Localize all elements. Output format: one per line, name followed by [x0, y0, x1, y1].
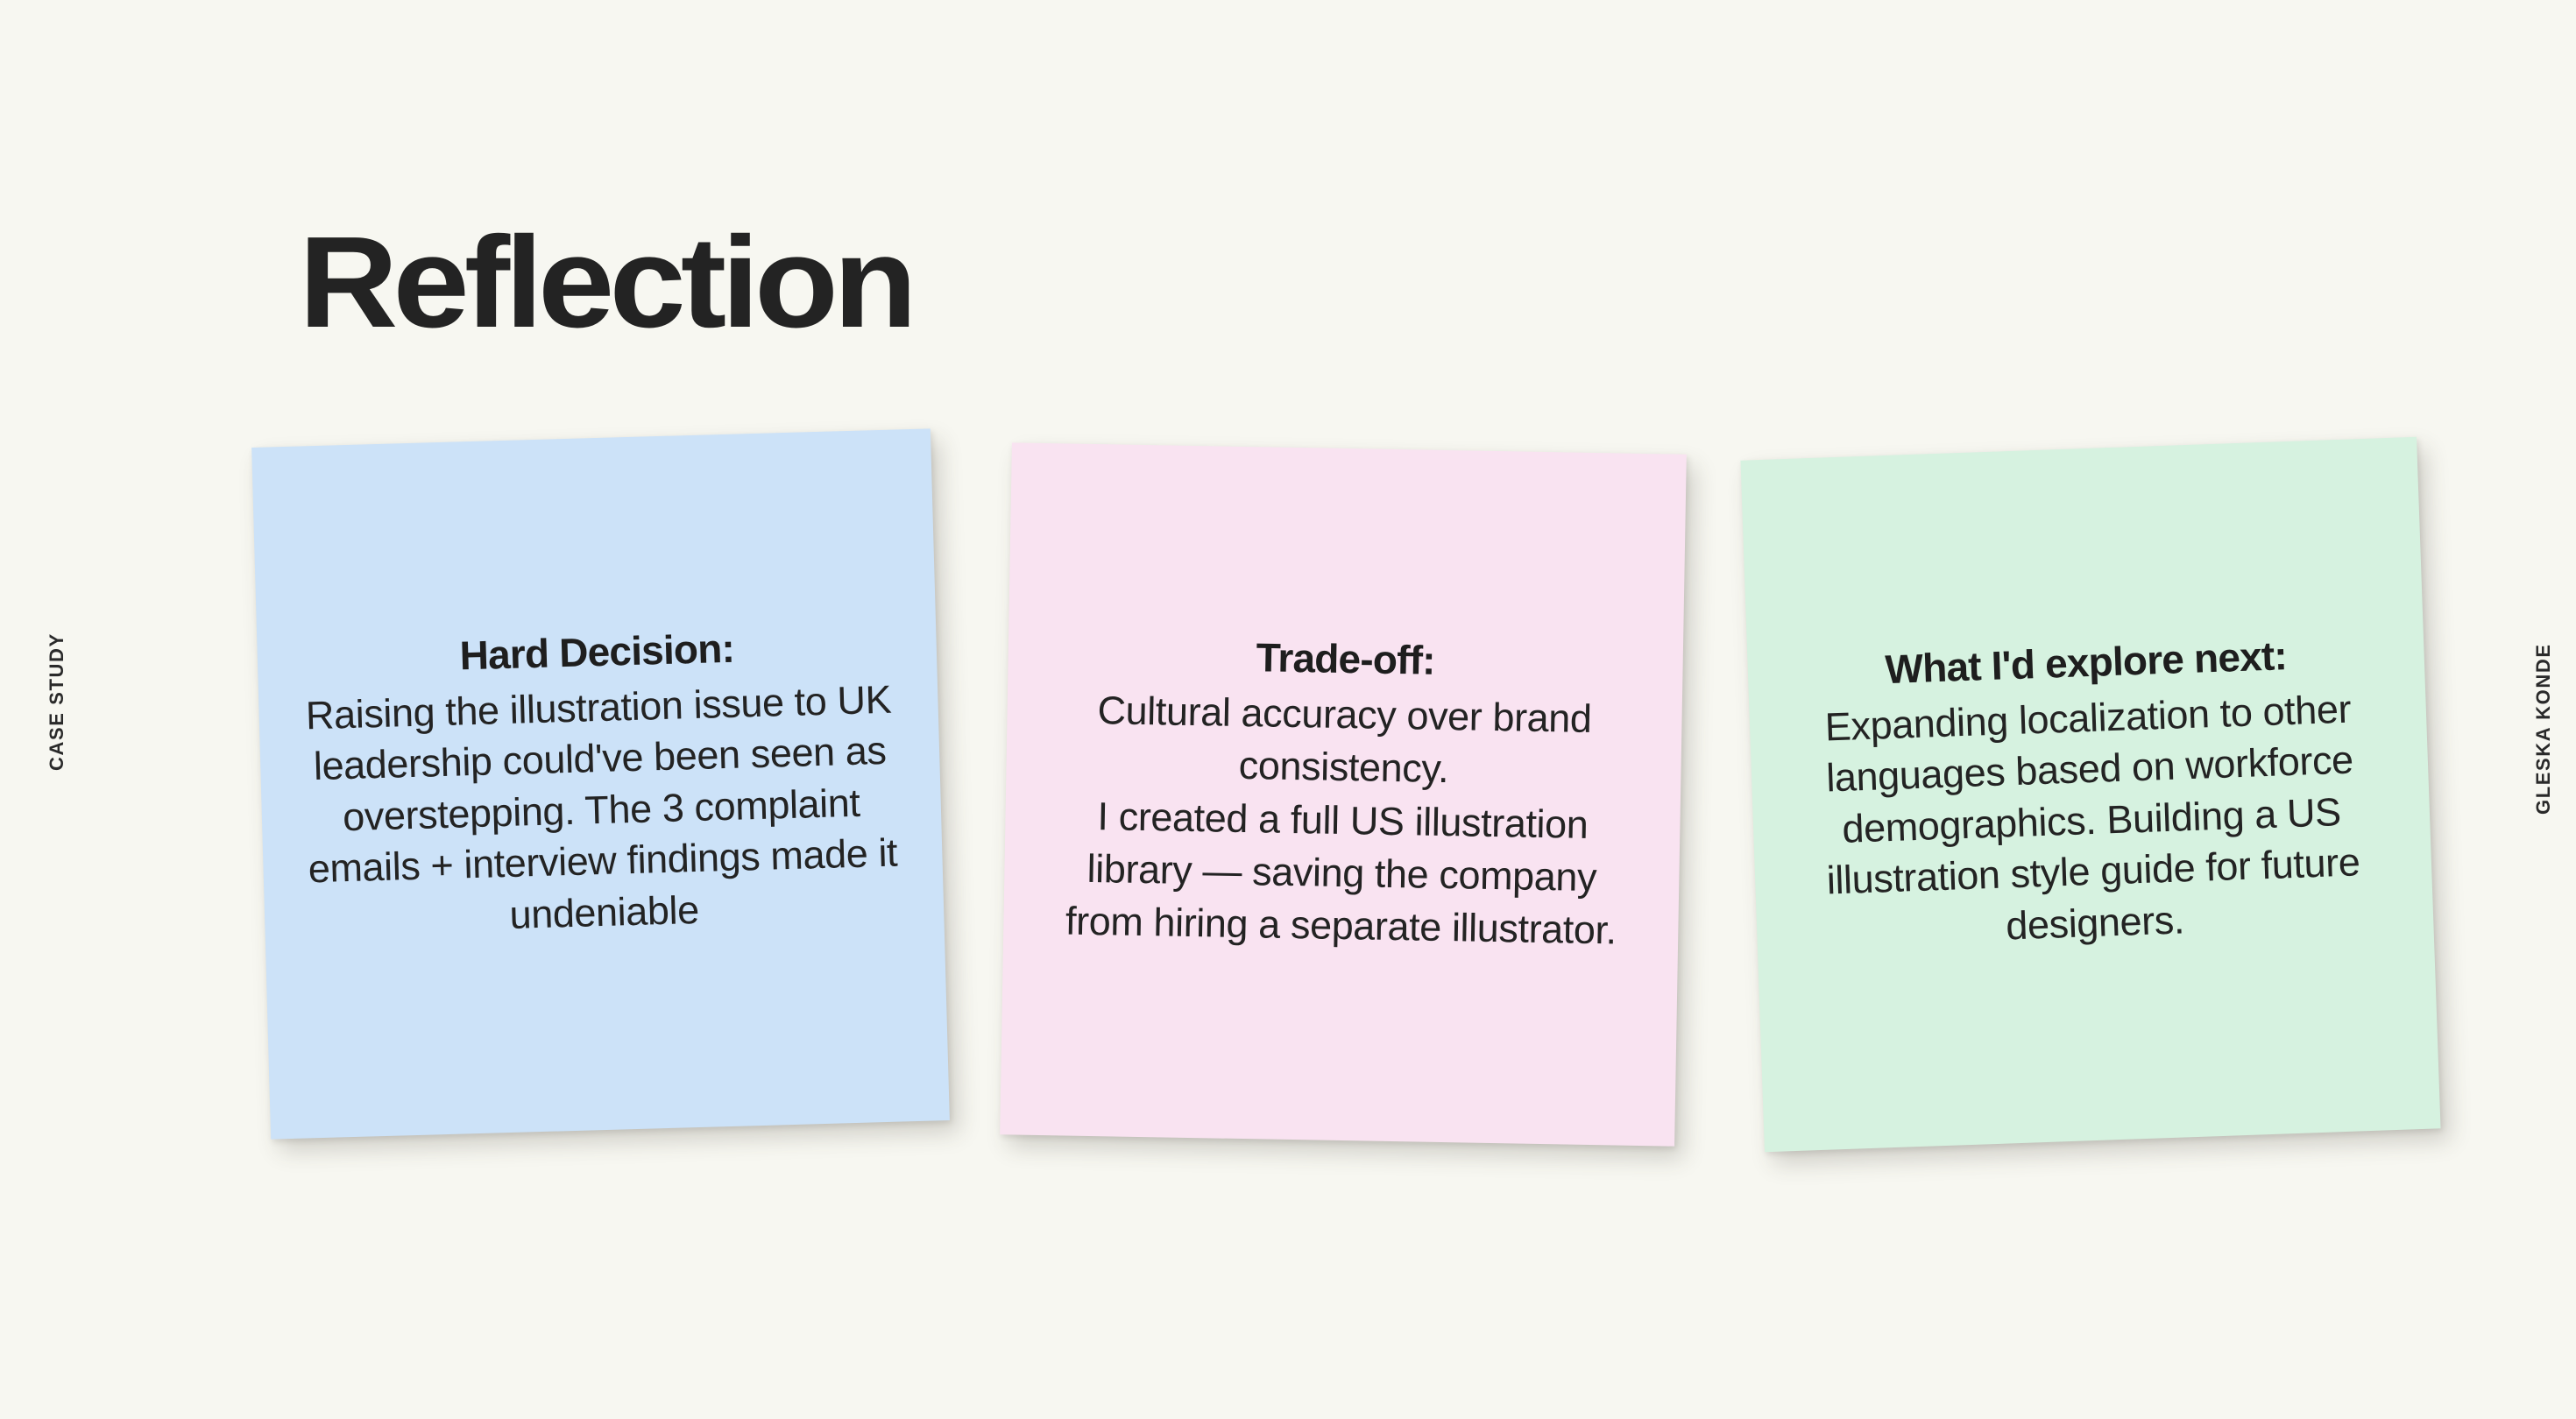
card-body: Cultural accuracy over brand consistency…: [1044, 683, 1642, 957]
sticky-note-card-trade-off: Trade-off: Cultural accuracy over brand …: [1000, 442, 1687, 1146]
card-body: Expanding localization to other language…: [1789, 682, 2394, 959]
card-heading: What I'd explore next:: [1885, 633, 2288, 692]
slide-canvas: Reflection CASE STUDY GLESKA KONDE Hard …: [0, 0, 2576, 1419]
sticky-note-card-explore-next: What I'd explore next: Expanding localiz…: [1740, 437, 2440, 1152]
card-body: Raising the illustration issue to UK lea…: [299, 674, 904, 946]
card-heading: Hard Decision:: [459, 626, 735, 679]
side-label-brand: GLESKA KONDE: [2532, 643, 2555, 815]
side-label-case-study: CASE STUDY: [46, 632, 68, 771]
page-title: Reflection: [299, 218, 912, 348]
card-heading: Trade-off:: [1256, 635, 1435, 683]
sticky-note-card-hard-decision: Hard Decision: Raising the illustration …: [251, 428, 950, 1139]
